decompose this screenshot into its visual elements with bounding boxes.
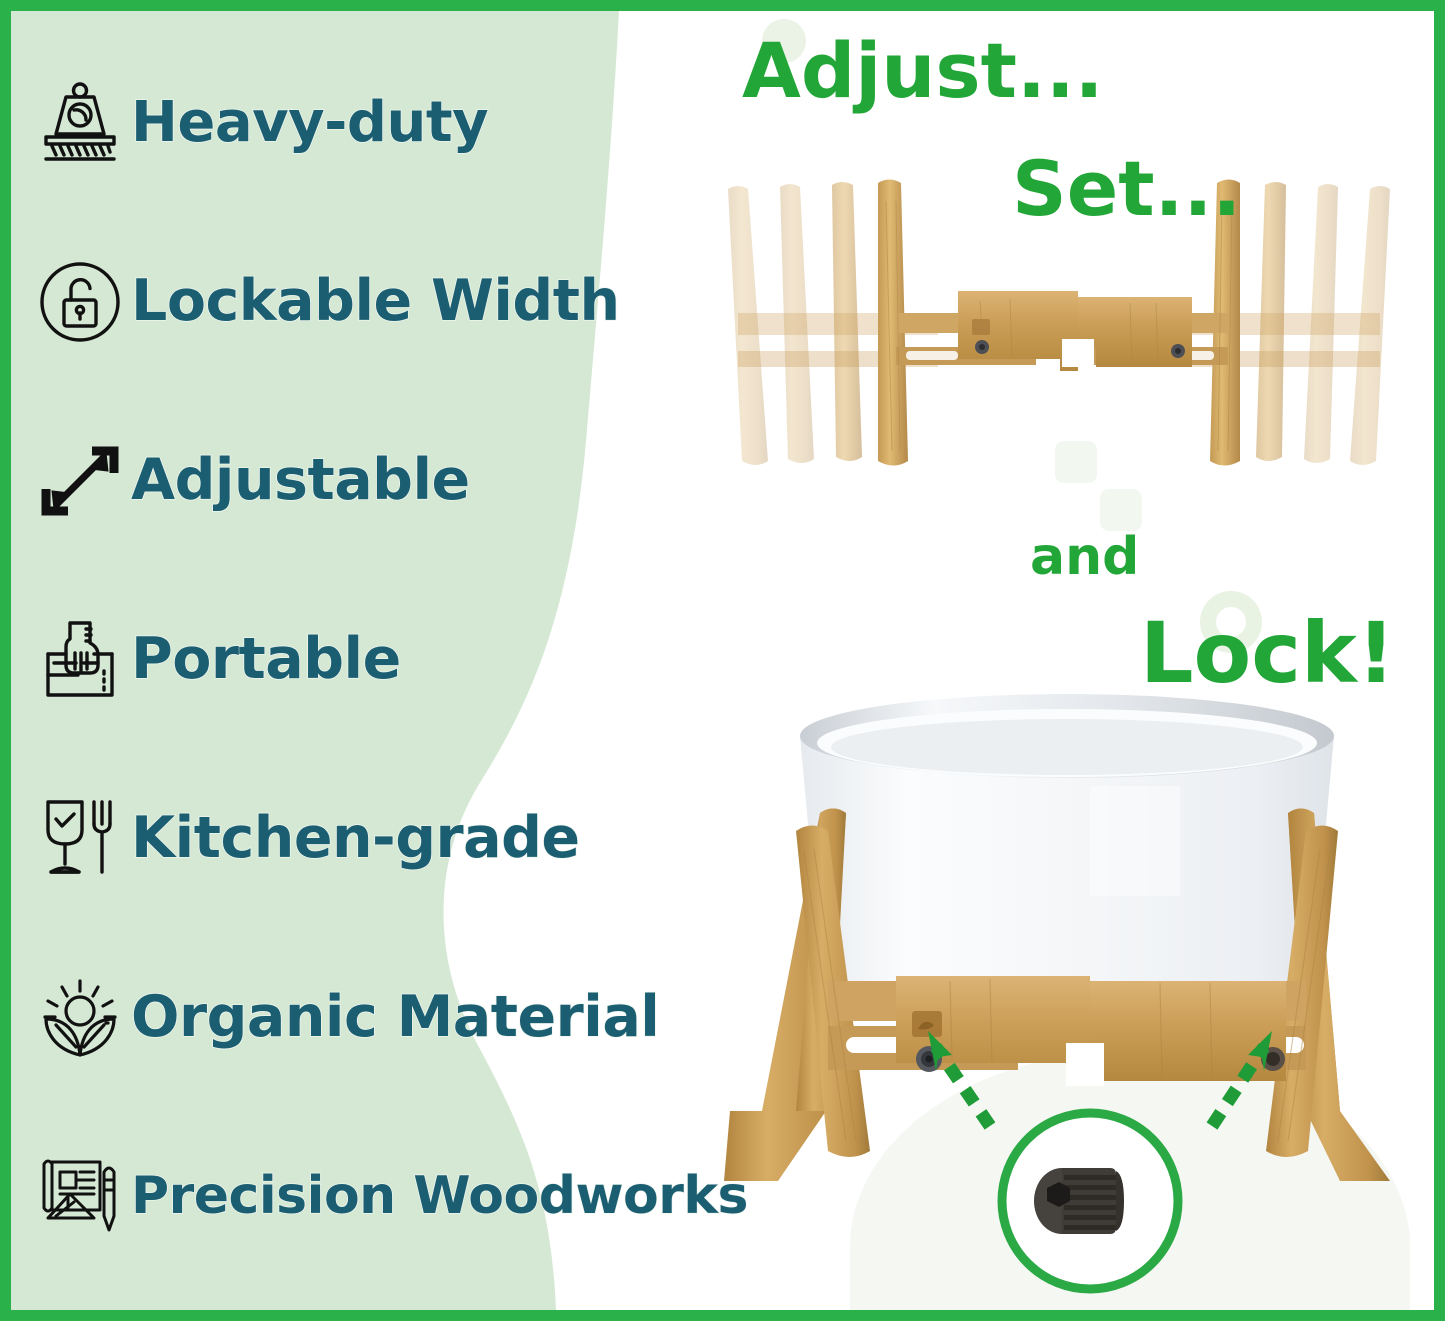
glass-fork-icon: [11, 792, 131, 884]
feature-item-heavy-duty: Heavy-duty: [11, 39, 711, 207]
bolt-glyph: [1034, 1168, 1124, 1234]
feature-label: Heavy-duty: [131, 95, 488, 151]
feature-label: Kitchen-grade: [131, 810, 580, 867]
feature-list: Heavy-duty Lockable Width: [11, 11, 711, 1310]
feature-item-precision-woodworks: Precision Woodworks: [11, 1112, 711, 1280]
weight-scale-icon: [11, 77, 131, 169]
feature-label: Organic Material: [131, 989, 659, 1046]
frame-border-right: [1434, 0, 1445, 1321]
open-padlock-icon: [11, 256, 131, 348]
callout-set: Set...: [1012, 151, 1241, 227]
hand-carry-box-icon: [11, 613, 131, 705]
feature-item-kitchen-grade: Kitchen-grade: [11, 754, 711, 922]
feature-label: Adjustable: [131, 452, 470, 509]
blueprint-ruler-pencil-icon: [11, 1150, 131, 1242]
feature-item-adjustable: Adjustable: [11, 397, 711, 565]
sun-leaves-icon: [11, 971, 131, 1063]
callout-and: and: [1030, 531, 1139, 583]
product-infographic: Heavy-duty Lockable Width: [0, 0, 1445, 1321]
feature-label: Precision Woodworks: [131, 1170, 748, 1222]
frame-border-left: [0, 0, 11, 1321]
product-image-area: Adjust... Set... and Lock!: [700, 11, 1434, 1310]
feature-label: Portable: [131, 631, 401, 688]
hex-socket-bolt-detail: [990, 1101, 1190, 1301]
frame-border-top: [0, 0, 1445, 11]
diagonal-resize-icon: [11, 435, 131, 527]
callout-lock: Lock!: [1140, 611, 1395, 695]
feature-item-lockable-width: Lockable Width: [11, 218, 711, 386]
frame-border-bottom: [0, 1310, 1445, 1321]
feature-label: Lockable Width: [131, 273, 620, 330]
feature-item-portable: Portable: [11, 575, 711, 743]
callout-adjust: Adjust...: [742, 33, 1104, 109]
feature-item-organic-material: Organic Material: [11, 933, 711, 1101]
